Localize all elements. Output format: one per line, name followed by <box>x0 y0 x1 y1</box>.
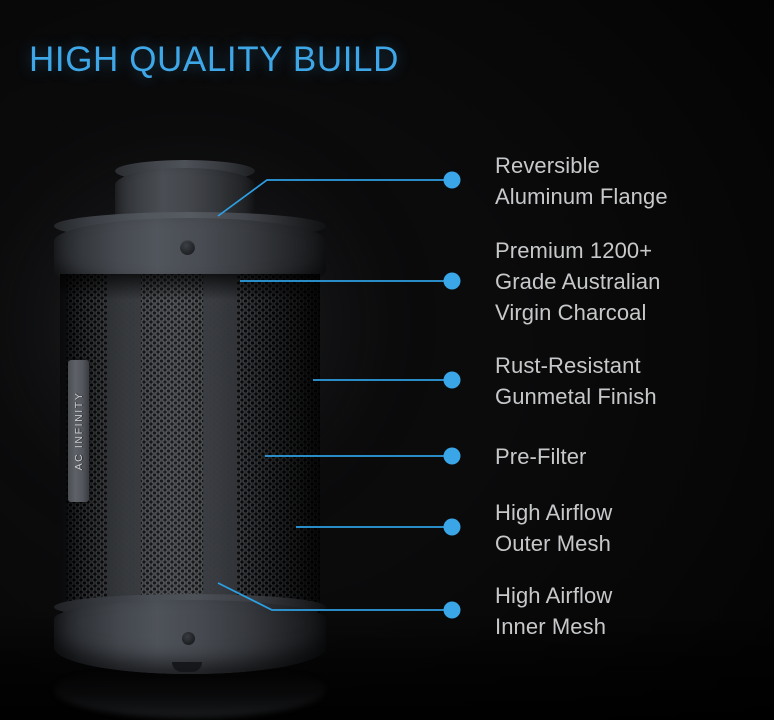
callout-labels-layer: Reversible Aluminum Flange Premium 1200+… <box>0 0 774 720</box>
infographic-page: HIGH QUALITY BUILD AC INFINITY <box>0 0 774 720</box>
callout-label-outer-mesh: High Airflow Outer Mesh <box>495 497 612 559</box>
callout-label-reversible-aluminum-flange: Reversible Aluminum Flange <box>495 150 668 212</box>
callout-label-premium-charcoal: Premium 1200+ Grade Australian Virgin Ch… <box>495 235 660 328</box>
callout-label-pre-filter: Pre-Filter <box>495 441 586 472</box>
callout-label-gunmetal-finish: Rust-Resistant Gunmetal Finish <box>495 350 657 412</box>
callout-label-inner-mesh: High Airflow Inner Mesh <box>495 580 612 642</box>
